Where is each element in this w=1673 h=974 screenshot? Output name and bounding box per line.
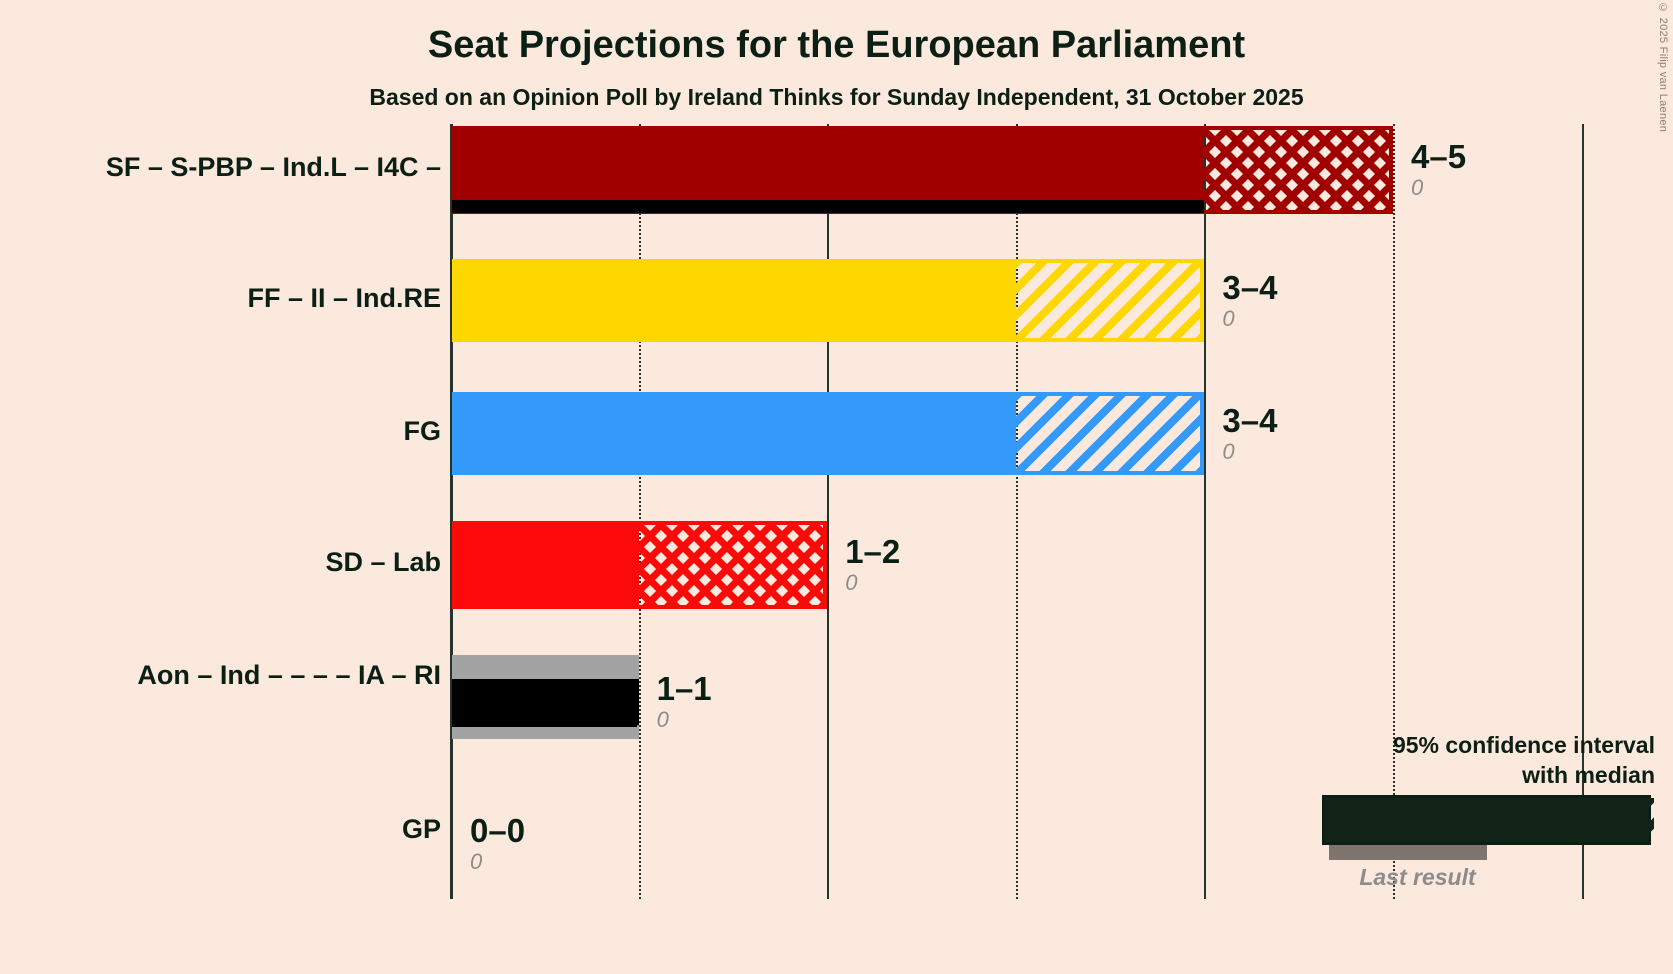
chart-row: SF – S-PBP – Ind.L – I4C –4–50 bbox=[0, 126, 1673, 214]
seat-range-label-6: 0–0 bbox=[470, 812, 525, 850]
chart-row: FG3–40 bbox=[0, 392, 1673, 475]
bar-confidence-segment bbox=[639, 521, 828, 609]
last-result-label-6: 0 bbox=[470, 849, 482, 875]
gridline-seat-1 bbox=[639, 124, 641, 899]
median-marker bbox=[452, 200, 1204, 213]
gridline-seat-3 bbox=[1016, 124, 1018, 899]
row-label-1: SF – S-PBP – Ind.L – I4C – bbox=[106, 152, 441, 183]
chart-row: Aon – Ind – – – – IA – RI1–10 bbox=[0, 655, 1673, 715]
gridline-seat-4 bbox=[1204, 124, 1206, 899]
bar-confidence-segment bbox=[1016, 259, 1205, 342]
legend-last-result-label: Last result bbox=[1290, 864, 1545, 891]
legend-crosshatch-segment bbox=[1488, 798, 1598, 842]
legend-last-result-bar bbox=[1329, 845, 1487, 860]
bar-solid-segment bbox=[452, 392, 1016, 475]
last-result-label-1: 0 bbox=[1411, 175, 1423, 201]
row-label-4: SD – Lab bbox=[325, 547, 441, 578]
median-marker bbox=[452, 691, 637, 727]
legend-caption-line2: with median bbox=[1393, 760, 1655, 790]
bar-solid-segment bbox=[452, 259, 1016, 342]
seat-bar-3 bbox=[452, 392, 1204, 475]
seat-bar-4 bbox=[452, 521, 827, 609]
last-result-label-2: 0 bbox=[1222, 306, 1234, 332]
legend-confidence-bar bbox=[1322, 795, 1651, 845]
row-label-6: GP bbox=[402, 814, 441, 845]
seat-range-label-4: 1–2 bbox=[845, 533, 900, 571]
gridline-seat-2 bbox=[827, 124, 829, 899]
legend-diagonal-segment bbox=[1598, 798, 1654, 842]
seat-bar-2 bbox=[452, 259, 1204, 342]
chart-row: FF – II – Ind.RE3–40 bbox=[0, 259, 1673, 342]
last-result-label-4: 0 bbox=[845, 570, 857, 596]
row-label-2: FF – II – Ind.RE bbox=[247, 283, 441, 314]
seat-range-label-5: 1–1 bbox=[657, 670, 712, 708]
y-axis-line bbox=[450, 124, 453, 899]
chart-row: SD – Lab1–20 bbox=[0, 521, 1673, 609]
bar-confidence-segment bbox=[1204, 126, 1393, 214]
legend-caption: 95% confidence interval with median bbox=[1393, 730, 1655, 790]
seat-range-label-1: 4–5 bbox=[1411, 138, 1466, 176]
bar-solid-segment bbox=[452, 521, 639, 609]
seat-range-label-3: 3–4 bbox=[1222, 402, 1277, 440]
last-result-label-3: 0 bbox=[1222, 439, 1234, 465]
last-result-label-5: 0 bbox=[657, 707, 669, 733]
row-label-3: FG bbox=[404, 416, 442, 447]
legend-caption-line1: 95% confidence interval bbox=[1393, 730, 1655, 760]
seat-range-label-2: 3–4 bbox=[1222, 269, 1277, 307]
bar-confidence-segment bbox=[1016, 392, 1205, 475]
row-label-5: Aon – Ind – – – – IA – RI bbox=[137, 660, 441, 691]
